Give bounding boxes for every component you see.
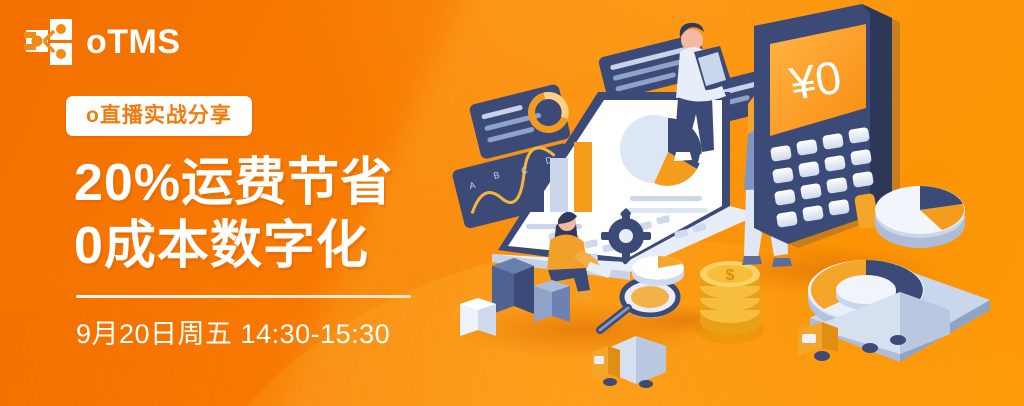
promo-badge: o直播实战分享 — [66, 96, 252, 136]
calculator-display: ¥0 — [785, 51, 845, 111]
coin-symbol: $ — [726, 267, 735, 284]
brand-name: oTMS — [86, 25, 181, 59]
event-datetime: 9月20日周五 14:30-15:30 — [76, 312, 466, 351]
hero-illustration: A B C D — [430, 0, 1024, 406]
divider — [76, 295, 411, 298]
promo-banner: oTMS o直播实战分享 20%运费节省 0成本数字化 9月20日周五 14:3… — [0, 0, 1024, 406]
headline-line-1: 20%运费节省 — [74, 156, 466, 211]
coin-stack: $ — [696, 261, 764, 344]
headline-line-2: 0成本数字化 — [74, 219, 466, 274]
white-disc — [632, 256, 684, 286]
brand-logo[interactable]: oTMS — [24, 18, 181, 66]
otms-squares-logo-icon — [24, 18, 74, 66]
promo-copy: o直播实战分享 20%运费节省 0成本数字化 9月20日周五 14:30-15:… — [66, 96, 466, 351]
pie-chart — [875, 186, 965, 248]
